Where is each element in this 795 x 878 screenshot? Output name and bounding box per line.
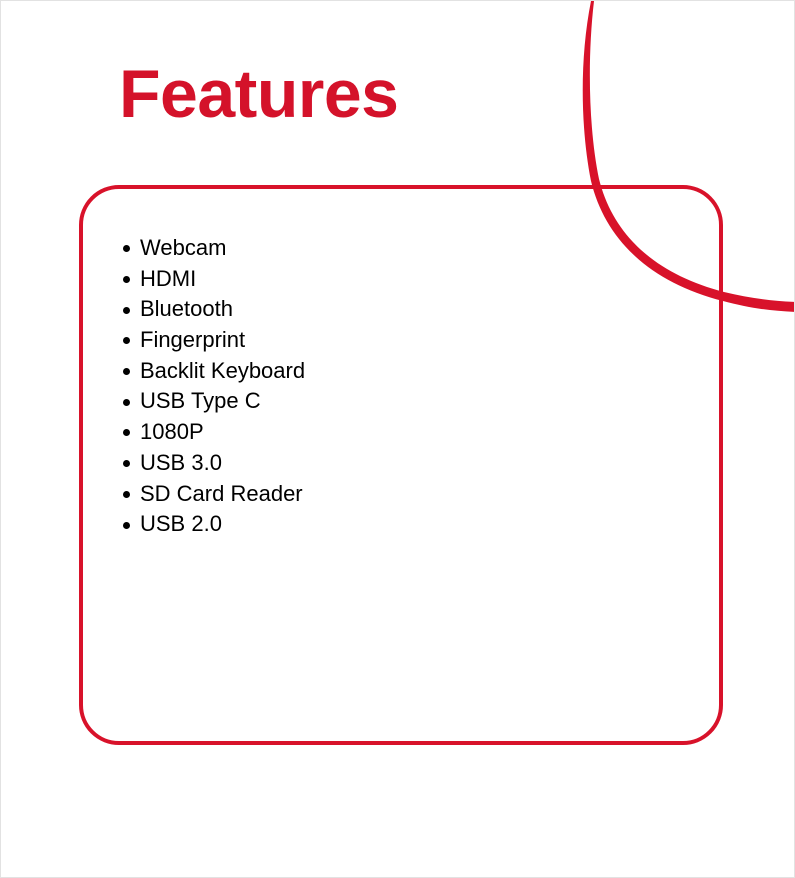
bullet-icon [123,399,130,406]
page-title: Features [119,60,398,128]
list-item-label: USB Type C [140,386,261,417]
list-item: HDMI [123,264,305,295]
list-item: USB 3.0 [123,448,305,479]
bullet-icon [123,337,130,344]
list-item-label: Webcam [140,233,226,264]
list-item-label: Backlit Keyboard [140,356,305,387]
list-item: Webcam [123,233,305,264]
bullet-icon [123,429,130,436]
list-item-label: USB 2.0 [140,509,222,540]
bullet-icon [123,491,130,498]
bullet-icon [123,276,130,283]
feature-list: Webcam HDMI Bluetooth Fingerprint Backli… [123,233,305,540]
list-item: Fingerprint [123,325,305,356]
list-item: 1080P [123,417,305,448]
list-item-label: 1080P [140,417,204,448]
bullet-icon [123,307,130,314]
list-item: USB Type C [123,386,305,417]
feature-box: Webcam HDMI Bluetooth Fingerprint Backli… [79,185,723,745]
list-item: SD Card Reader [123,479,305,510]
bullet-icon [123,245,130,252]
list-item: Backlit Keyboard [123,356,305,387]
list-item-label: USB 3.0 [140,448,222,479]
bullet-icon [123,522,130,529]
bullet-icon [123,460,130,467]
list-item: Bluetooth [123,294,305,325]
list-item-label: SD Card Reader [140,479,303,510]
list-item-label: Bluetooth [140,294,233,325]
list-item: USB 2.0 [123,509,305,540]
bullet-icon [123,368,130,375]
list-item-label: HDMI [140,264,196,295]
list-item-label: Fingerprint [140,325,245,356]
slide-canvas: Features Webcam HDMI Bluetooth Fingerpri… [0,0,795,878]
